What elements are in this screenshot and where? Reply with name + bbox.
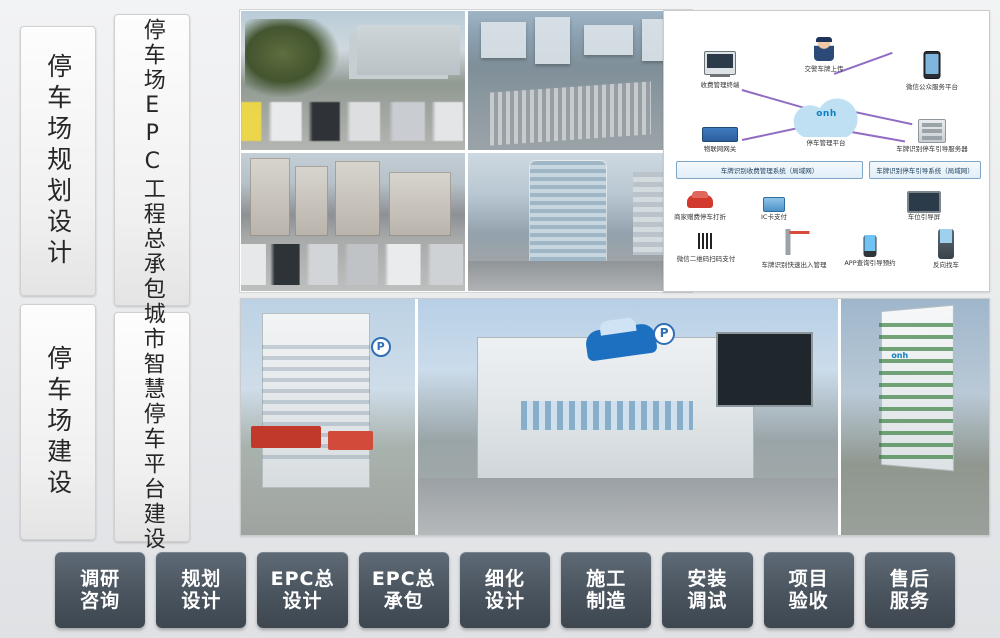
left-category-column: 停车场规划设计 停车场EPC工程总承包 停车场建设 城市智慧停车平台建设 [18, 8, 218, 538]
diagram-node-label: 商家赠费停车打折 [674, 213, 726, 221]
mobile-phone-icon [924, 51, 941, 79]
diagram-node-label: APP查询引导预约 [844, 259, 895, 267]
shop-sign [328, 431, 373, 450]
render-gallery: P P onh [240, 298, 990, 536]
diagram-node-label: 微信公众服务平台 [906, 83, 958, 91]
shop-sign [251, 426, 321, 447]
system-architecture-diagram: 收费管理终端 交警车牌上传 微信公众服务平台 物联网网关 onh 停车管理平台 … [663, 10, 990, 292]
diagram-group-payment: 车牌识别收费管理系统（局域网） [676, 161, 863, 179]
render-smart-parking-complex: P [418, 299, 838, 535]
diagram-node-label: 车牌识别停车引导服务器 [896, 145, 968, 153]
merchant-discount-car-icon [687, 195, 713, 208]
anpr-server-icon [918, 119, 946, 143]
parked-cars-row [241, 102, 465, 141]
glass-tower [530, 161, 606, 261]
category-card-epc-contracting[interactable]: 停车场EPC工程总承包 [114, 14, 190, 306]
find-car-kiosk-icon [938, 227, 954, 259]
category-card-planning-design-label: 停车场规划设计 [42, 53, 73, 270]
cloud-platform-icon: onh [785, 97, 869, 137]
residential-tower [250, 158, 290, 236]
step-epc-contracting[interactable]: EPC总 承包 [359, 552, 449, 628]
category-card-city-platform-label: 城市智慧停车平台建设 [138, 302, 166, 552]
step-planning-design[interactable]: 规划 设计 [156, 552, 246, 628]
diagram-group-guidance: 车牌识别停车引导系统（局域网） [869, 161, 981, 179]
step-epc-design[interactable]: EPC总 设计 [257, 552, 347, 628]
photo-grid-top [240, 10, 692, 292]
glass-curtain-wall [521, 401, 693, 430]
poster-root: 停车场规划设计 停车场EPC工程总承包 停车场建设 城市智慧停车平台建设 [0, 0, 1000, 638]
traffic-officer-icon [814, 37, 834, 61]
vertical-greenery [879, 323, 953, 460]
building-block [535, 17, 571, 64]
street [418, 478, 838, 535]
diagram-node-label: 收费管理终端 [701, 81, 740, 89]
step-detailed-design[interactable]: 细化 设计 [460, 552, 550, 628]
category-card-epc-contracting-label: 停车场EPC工程总承包 [138, 18, 166, 302]
diagram-node-label: 反向找车 [933, 261, 959, 269]
parked-cars-row [241, 244, 465, 286]
building-block [584, 25, 633, 55]
aerial-parking-lot [490, 82, 651, 146]
street [468, 261, 692, 291]
monitor-icon [704, 51, 736, 75]
diagram-node-label: 车位引导屏 [908, 213, 941, 221]
complex-body [477, 337, 754, 483]
category-card-city-platform[interactable]: 城市智慧停车平台建设 [114, 312, 190, 542]
diagram-node-label: 交警车牌上传 [805, 65, 844, 73]
qr-code-icon [698, 233, 714, 249]
diagram-node-label: IC卡支付 [761, 213, 787, 221]
photo-residential-parking [241, 153, 465, 292]
residential-tower [335, 161, 380, 236]
residential-tower [389, 172, 452, 236]
ic-card-icon [763, 197, 785, 212]
category-card-parking-construction[interactable]: 停车场建设 [20, 304, 96, 540]
step-project-acceptance[interactable]: 项目 验收 [764, 552, 854, 628]
step-construction-manufacture[interactable]: 施工 制造 [561, 552, 651, 628]
guidance-screen-icon [907, 191, 941, 213]
photo-office-tower [468, 153, 692, 292]
photo-open-air-parking [241, 11, 465, 150]
photo-aerial-city [468, 11, 692, 150]
brand-logo-text: onh [816, 109, 837, 119]
parking-p-sign: P [371, 337, 391, 357]
step-research-consulting[interactable]: 调研 咨询 [55, 552, 145, 628]
diagram-node-label: 微信二维码扫码支付 [677, 255, 736, 263]
diagram-node-label: 停车管理平台 [807, 139, 846, 147]
app-phone-icon [864, 233, 877, 257]
parking-tower-body [262, 313, 370, 488]
iot-gateway-icon [702, 127, 738, 142]
led-billboard [716, 332, 812, 407]
diagram-node-label: 车牌识别快速出入管理 [762, 261, 827, 269]
process-step-bar: 调研 咨询 规划 设计 EPC总 设计 EPC总 承包 细化 设计 施工 制造 … [55, 552, 955, 628]
building-block [481, 22, 526, 58]
barrier-gate-icon [786, 229, 791, 255]
category-card-parking-construction-label: 停车场建设 [42, 345, 73, 500]
render-green-parking-tower: onh [841, 299, 989, 535]
render-mechanical-parking-tower: P [241, 299, 415, 535]
residential-tower [295, 166, 329, 235]
category-card-planning-design[interactable]: 停车场规划设计 [20, 26, 96, 296]
step-installation-commissioning[interactable]: 安装 调试 [662, 552, 752, 628]
parking-p-sign: P [653, 323, 675, 345]
diagram-node-label: 物联网网关 [704, 145, 737, 153]
brand-logo-text: onh [891, 351, 908, 360]
step-after-sales-service[interactable]: 售后 服务 [865, 552, 955, 628]
